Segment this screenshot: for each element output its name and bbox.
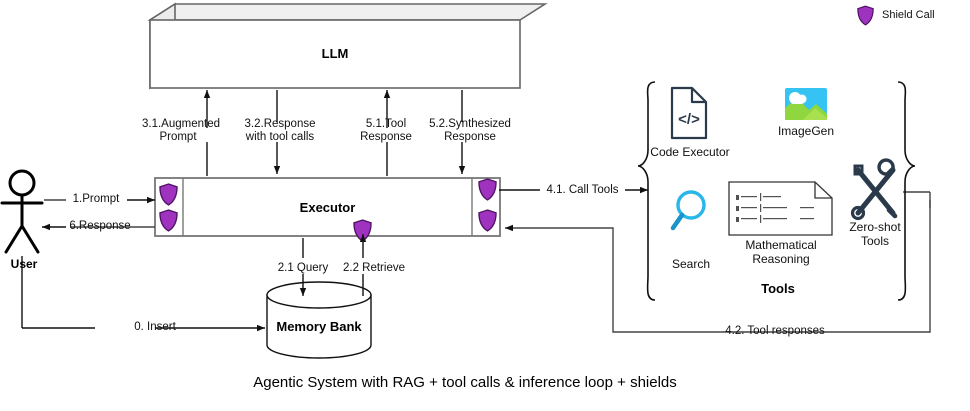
llm-label: LLM xyxy=(150,46,520,61)
edge-label-call-tools: 4.1. Call Tools xyxy=(535,184,630,197)
edge-label-query: 2.1 Query xyxy=(269,262,337,275)
executor-label: Executor xyxy=(183,200,472,215)
tool-label-imagegen: ImageGen xyxy=(770,124,842,138)
image-icon xyxy=(785,88,827,120)
memory-bank-label: Memory Bank xyxy=(267,319,371,334)
diagram-canvas: </> xyxy=(0,0,970,411)
crossed-tools-icon xyxy=(853,160,896,218)
tool-label-math-reasoning: Mathematical Reasoning xyxy=(733,238,829,266)
edge-label-response: 6.Response xyxy=(63,220,137,233)
user-node xyxy=(2,171,42,252)
edge-label-tool-response: 5.1.Tool Response xyxy=(348,118,424,144)
tool-label-search: Search xyxy=(661,257,721,271)
svg-text:</>: </> xyxy=(678,111,700,128)
edge-label-prompt: 1.Prompt xyxy=(63,193,129,206)
legend-shield-icon xyxy=(858,6,873,25)
edge-label-retrieve: 2.2 Retrieve xyxy=(334,262,414,275)
edge-label-insert: 0. Insert xyxy=(95,321,215,334)
code-file-icon: </> xyxy=(672,88,706,138)
diagram-vector-layer: </> xyxy=(0,0,970,411)
tool-label-zero-shot: Zero-shot Tools xyxy=(840,220,910,248)
diagram-caption: Agentic System with RAG + tool calls & i… xyxy=(0,374,930,391)
edge-label-synthesized: 5.2.Synthesized Response xyxy=(425,118,515,144)
edge-label-tool-calls: 3.2.Response with tool calls xyxy=(232,118,328,144)
edge-label-augmented: 3.1.Augmented Prompt xyxy=(142,118,214,144)
magnifier-icon xyxy=(673,192,704,228)
edge-label-tool-responses: 4.2. Tool responses xyxy=(716,325,834,338)
user-label: User xyxy=(0,257,48,271)
formula-document-icon xyxy=(729,182,832,235)
tool-label-code-executor: Code Executor xyxy=(645,145,735,159)
legend-label: Shield Call xyxy=(882,9,935,21)
tools-group-label: Tools xyxy=(733,281,823,296)
